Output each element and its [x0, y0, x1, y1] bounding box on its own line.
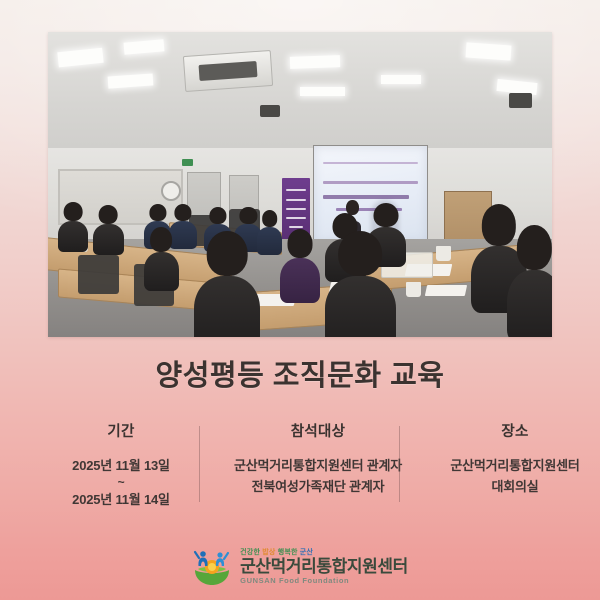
attendee: [257, 227, 282, 254]
slide-title-line: [323, 162, 418, 164]
info-heading-audience: 참석대상: [218, 420, 418, 441]
logo-tagline-part-3: 행복한: [278, 549, 298, 556]
exit-sign-icon: [182, 159, 193, 166]
info-value-place-2: 대회의실: [430, 476, 600, 497]
ceiling-light: [381, 75, 421, 84]
paper-cup: [436, 246, 451, 261]
info-value-audience-1: 군산먹거리통합지원센터 관계자: [218, 455, 418, 476]
info-value-period-start: 2025년 11월 13일: [36, 455, 206, 476]
slide-text-line: [323, 181, 418, 184]
ceiling-light: [300, 87, 345, 96]
ceiling-speaker: [260, 105, 280, 117]
info-value-audience-2: 전북여성가족재단 관계자: [218, 476, 418, 497]
slide-text-line: [323, 195, 409, 199]
ceiling-speaker: [509, 93, 532, 108]
column-divider: [399, 426, 400, 502]
chair: [78, 255, 118, 295]
logo-text-block: 건강한 밥상 행복한 군산 군산먹거리통합지원센터 GUNSAN Food Fo…: [240, 549, 408, 585]
ceiling-projector: [183, 50, 273, 92]
attendee: [144, 252, 179, 292]
column-divider: [199, 426, 200, 502]
attendee: [58, 221, 88, 252]
paper-cup: [406, 282, 421, 297]
attendee: [325, 276, 396, 337]
info-heading-place: 장소: [430, 420, 600, 441]
info-columns: 기간 2025년 11월 13일 ~ 2025년 11월 14일 참석대상 군산…: [30, 420, 570, 510]
footer-logo: 건강한 밥상 행복한 군산 군산먹거리통합지원센터 GUNSAN Food Fo…: [0, 548, 600, 586]
info-column-period: 기간 2025년 11월 13일 ~ 2025년 11월 14일: [30, 420, 212, 510]
logo-tagline-part-4: 군산: [300, 549, 313, 556]
logo-tagline-part-2: 밥상: [262, 549, 275, 556]
photo-scene: [48, 32, 552, 337]
ceiling-light: [290, 56, 341, 70]
info-column-place: 장소 군산먹거리통합지원센터 대회의실: [424, 420, 600, 497]
gunsan-food-foundation-logo-icon: [192, 548, 232, 586]
event-photo: [48, 32, 552, 337]
organization-name-en: GUNSAN Food Foundation: [240, 577, 349, 585]
poster-card: 양성평등 조직문화 교육 기간 2025년 11월 13일 ~ 2025년 11…: [0, 0, 600, 600]
logo-tagline-part-1: 건강한: [240, 549, 260, 556]
attendee: [507, 270, 552, 337]
page-title: 양성평등 조직문화 교육: [0, 352, 600, 394]
attendee: [169, 221, 197, 248]
info-column-audience: 참석대상 군산먹거리통합지원센터 관계자 전북여성가족재단 관계자: [212, 420, 424, 497]
info-value-place-1: 군산먹거리통합지원센터: [430, 455, 600, 476]
info-heading-period: 기간: [36, 420, 206, 441]
attendee: [93, 224, 123, 255]
attendee: [280, 258, 320, 304]
logo-tagline: 건강한 밥상 행복한 군산: [240, 549, 313, 556]
info-value-period-end: 2025년 11월 14일: [36, 489, 206, 510]
projector-body: [198, 62, 257, 82]
attendee: [194, 276, 260, 337]
paper-sheet: [425, 285, 468, 296]
info-value-period-separator: ~: [36, 476, 206, 489]
organization-name: 군산먹거리통합지원센터: [240, 558, 408, 575]
